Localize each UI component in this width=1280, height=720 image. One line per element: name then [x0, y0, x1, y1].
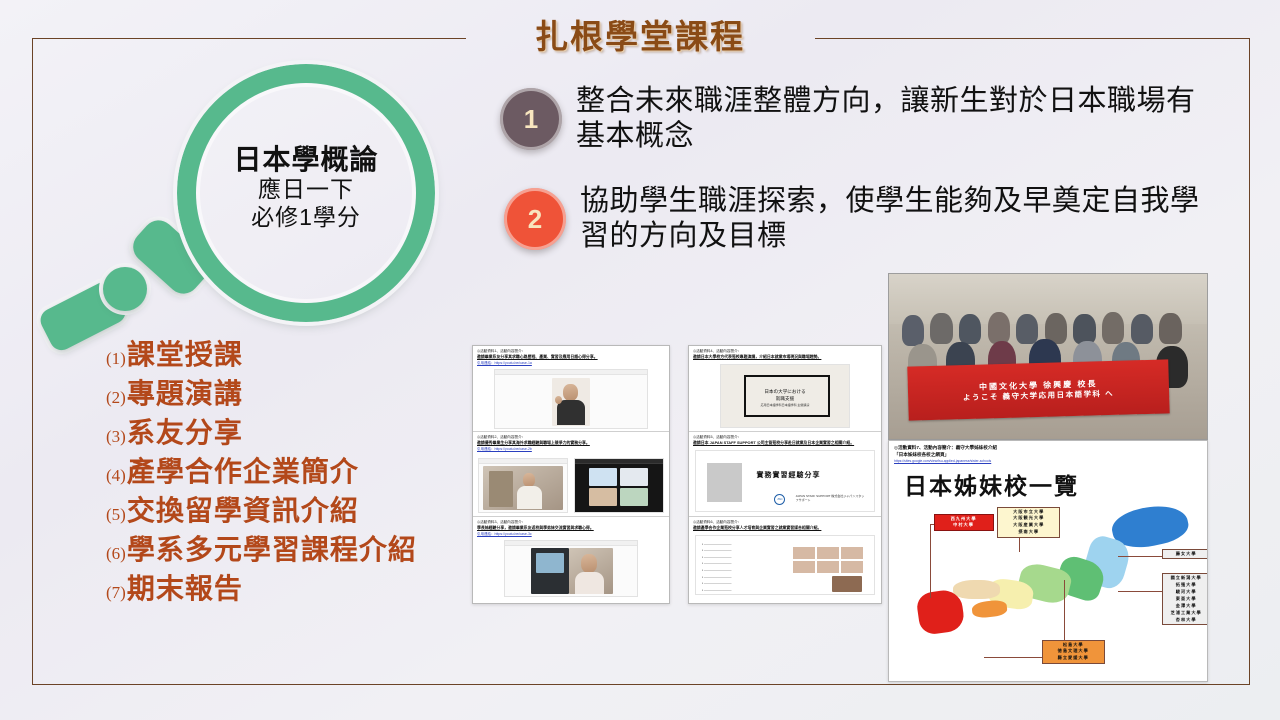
map-doc-head-line-1: ◎活動資料7、活動內容簡介：義守大學姊妹校介紹: [894, 445, 1202, 452]
university-box-shikoku: 松島大學徳島文理大學縣立愛媛大學: [1042, 640, 1105, 665]
doc-section-link[interactable]: 引用連結：https://youtu.be/case-1a: [477, 361, 665, 367]
list-item-number: (4): [106, 466, 126, 486]
list-item-label: 產學合作企業簡介: [127, 454, 359, 491]
lecture-slide-screenshot: 日本の大学における 就職支援 応用日本語学科日本語学科 主催講演: [720, 364, 850, 428]
objective-item-1: 1 整合未來職涯整體方向，讓新生對於日本職場有基本概念: [500, 84, 1200, 155]
video-screenshot: [478, 458, 568, 513]
course-credit-line: 必修1學分: [187, 204, 425, 232]
map-region-chugoku: [953, 580, 1001, 599]
matrix-cell: [816, 546, 840, 560]
frame-top-right-line: [815, 38, 1250, 39]
screenshot-titlebar: [495, 370, 647, 375]
group-photo-welcome-banner: 中國文化大學 徐興慶 校長 ようこそ 義守大学応用日本語学科 へ: [888, 273, 1208, 440]
doc-section: ◎活動資料2、活動內容簡介： 邀請優秀畢業生分享其海外求職經驗與職場上競爭力的實…: [473, 432, 669, 517]
doc-section: ◎活動資料4、活動內容簡介： 邀請日本大學校方代表蒞校專題演講，介紹日本就業市場…: [689, 346, 881, 432]
list-item-number: (5): [106, 505, 126, 525]
slide-caption-subtitle: 就職支援: [776, 396, 794, 401]
slide-root: 扎根學堂課程 日本學概論 應日一下 必修1學分 1 整合未來職涯整體方向，讓新生…: [0, 0, 1280, 720]
presentation-screenshot: [574, 458, 664, 513]
frame-right-line: [1249, 38, 1250, 684]
face-shape: [581, 554, 597, 573]
map-region-shikoku: [971, 599, 1007, 618]
list-item-number: (2): [106, 388, 126, 408]
doc-section-link[interactable]: 引用連結：https://youtu.be/case-3c: [477, 532, 665, 538]
list-item: (4) 產學合作企業簡介: [106, 454, 486, 491]
doc-section: ◎活動資料1、活動內容簡介： 邀請畢業系友分享其求職心路歷程、產業、實習及應用日…: [473, 346, 669, 432]
list-item-label: 專題演講: [127, 376, 243, 413]
frame-bottom-line: [32, 684, 1250, 685]
course-class-line: 應日一下: [187, 176, 425, 204]
magnifier-icon: 日本學概論 應日一下 必修1學分: [48, 62, 468, 312]
slide-title: 扎根學堂課程: [466, 10, 814, 58]
list-item: (1) 課堂授課: [106, 337, 486, 374]
frame-left-line: [32, 38, 33, 684]
alumni-sharing-document: ◎活動資料1、活動內容簡介： 邀請畢業系友分享其求職心路歷程、產業、實習及應用日…: [472, 345, 670, 604]
video-screenshot: [494, 369, 648, 429]
university-box-osaka: 大阪市立大學大阪観光大學大阪産業大學摂南大學: [997, 507, 1060, 539]
doc-section: ◎活動資料3、活動內容簡介： 學長姊經驗分享，邀請畢業系友返校與學弟妹交流實習與…: [473, 517, 669, 601]
list-item: (2) 專題演講: [106, 376, 486, 413]
matrix-cell: [792, 560, 816, 574]
map-doc-head-line-2: 「日本姊妹校各校之網頁」: [894, 452, 1202, 459]
map-doc-header: ◎活動資料7、活動內容簡介：義守大學姊妹校介紹 「日本姊妹校各校之網頁」 htt…: [889, 441, 1207, 503]
face-shape: [563, 384, 578, 401]
screenshot-titlebar: [479, 459, 567, 464]
map-doc-link[interactable]: https://sites.google.com/view/isu-applie…: [894, 459, 1202, 464]
list-item: (3) 系友分享: [106, 415, 486, 452]
slide-thumb: [620, 468, 648, 486]
university-box-hokkaido: 藤女大學: [1162, 549, 1208, 560]
university-box-kanto: 國立新潟大學拓殖大學駿河大學東亜大學金澤大學芝浦工業大學杏林大學: [1162, 573, 1208, 625]
list-item-number: (1): [106, 349, 126, 369]
matrix-cell: [840, 546, 864, 560]
matrix-cell: [840, 560, 864, 574]
course-activity-list: (1) 課堂授課 (2) 專題演講 (3) 系友分享 (4) 產學合作企業簡介 …: [106, 337, 486, 610]
magnifier-text-group: 日本學概論 應日一下 必修1學分: [187, 144, 425, 231]
screenshot-titlebar: [575, 459, 663, 464]
objective-text-1: 整合未來職涯整體方向，讓新生對於日本職場有基本概念: [576, 84, 1200, 155]
torso-shape: [575, 572, 604, 594]
doc-section-title: 邀請日本大學校方代表蒞校專題演講，介紹日本就業市場現況與職場趨勢。: [693, 354, 877, 360]
slide-thumb: [589, 488, 617, 506]
objective-badge-2: 2: [504, 188, 566, 250]
torso-shape: [517, 486, 542, 509]
objective-badge-1: 1: [500, 88, 562, 150]
handout-screenshot: ▪ ─────────────▪ ─────────────▪ ────────…: [695, 535, 875, 595]
university-box-kyushu: 西九州大學中村大學: [934, 514, 994, 532]
doc-section: ◎活動資料6、活動內容簡介： 邀請產學合作企業蒞校分享人才培育與企業實習之就業實…: [689, 517, 881, 601]
slide-side-band: [707, 463, 743, 503]
list-item-label: 期末報告: [127, 571, 243, 608]
face-shape: [523, 473, 535, 487]
list-item-label: 系友分享: [127, 415, 243, 452]
doc-section-link[interactable]: 引用連結：https://youtu.be/case-2b: [477, 447, 665, 453]
list-item-number: (6): [106, 544, 126, 564]
slide-caption-title: 日本の大学における: [764, 389, 805, 394]
objective-item-2: 2 協助學生職涯探索，使學生能夠及早奠定自我學習的方向及目標: [504, 184, 1204, 255]
frame-top-left-line: [32, 38, 466, 39]
poster-image: [536, 553, 564, 573]
building-photo: [832, 576, 862, 592]
slide-caption: 日本の大学における 就職支援 応用日本語学科日本語学科 主催講演: [721, 389, 849, 407]
doc-section: ◎活動資料5、活動內容簡介： 邀請日本 JAPAN STAFF SUPPORT …: [689, 432, 881, 517]
bookshelf-shape: [489, 471, 513, 507]
list-item: (6) 學系多元學習課程介紹: [106, 532, 486, 569]
list-item-label: 學系多元學習課程介紹: [127, 532, 417, 569]
list-item-number: (7): [106, 583, 126, 603]
doc-section-title: 邀請產學合作企業蒞校分享人才培育與企業實習之就業實習媒合相關介紹。: [693, 525, 877, 531]
list-item-label: 課堂授課: [127, 337, 243, 374]
screenshot-titlebar: [505, 541, 637, 546]
course-title: 日本學概論: [187, 144, 425, 176]
matrix-cell: [816, 560, 840, 574]
map-title: 日本姊妹校一覽: [904, 467, 1202, 501]
career-lecture-document: ◎活動資料4、活動內容簡介： 邀請日本大學校方代表蒞校專題演講，介紹日本就業市場…: [688, 345, 882, 604]
handout-text-lines: ▪ ─────────────▪ ─────────────▪ ────────…: [702, 541, 732, 594]
doc-section-title: 邀請日本 JAPAN STAFF SUPPORT 公司主管蒞校分享赴日就業及日本…: [693, 440, 877, 446]
video-screenshot: [504, 540, 638, 597]
torso-shape: [557, 400, 585, 425]
magnifier-knob: [103, 267, 147, 311]
matrix-cell: [792, 546, 816, 560]
list-item-number: (3): [106, 427, 126, 447]
list-item-label: 交換留學資訊介紹: [127, 493, 359, 530]
objective-text-2: 協助學生職涯探索，使學生能夠及早奠定自我學習的方向及目標: [580, 184, 1204, 255]
slide-caption-title: 實務實習經驗分享: [757, 470, 821, 480]
slide-caption-note: JAPAN STAFF SUPPORT 株式会社ジャパンスタッフサポート: [796, 494, 867, 503]
slide-thumb: [620, 488, 648, 506]
slide-thumb: [589, 468, 617, 486]
list-item: (5) 交換留學資訊介紹: [106, 493, 486, 530]
japan-map: 西九州大學中村大學 大阪市立大學大阪観光大學大阪産業大學摂南大學 藤女大學 國立…: [889, 503, 1207, 678]
welcome-banner: 中國文化大學 徐興慶 校長 ようこそ 義守大学応用日本語学科 へ: [907, 359, 1169, 421]
slide-caption-note: 応用日本語学科日本語学科 主催講演: [721, 403, 849, 408]
company-logo-icon: JSC: [774, 494, 785, 505]
japan-sister-schools-document: ◎活動資料7、活動內容簡介：義守大學姊妹校介紹 「日本姊妹校各校之網頁」 htt…: [888, 440, 1208, 682]
list-item: (7) 期末報告: [106, 571, 486, 608]
lecture-slide-screenshot: 實務實習經驗分享 JSC JAPAN STAFF SUPPORT 株式会社ジャパ…: [695, 450, 875, 512]
